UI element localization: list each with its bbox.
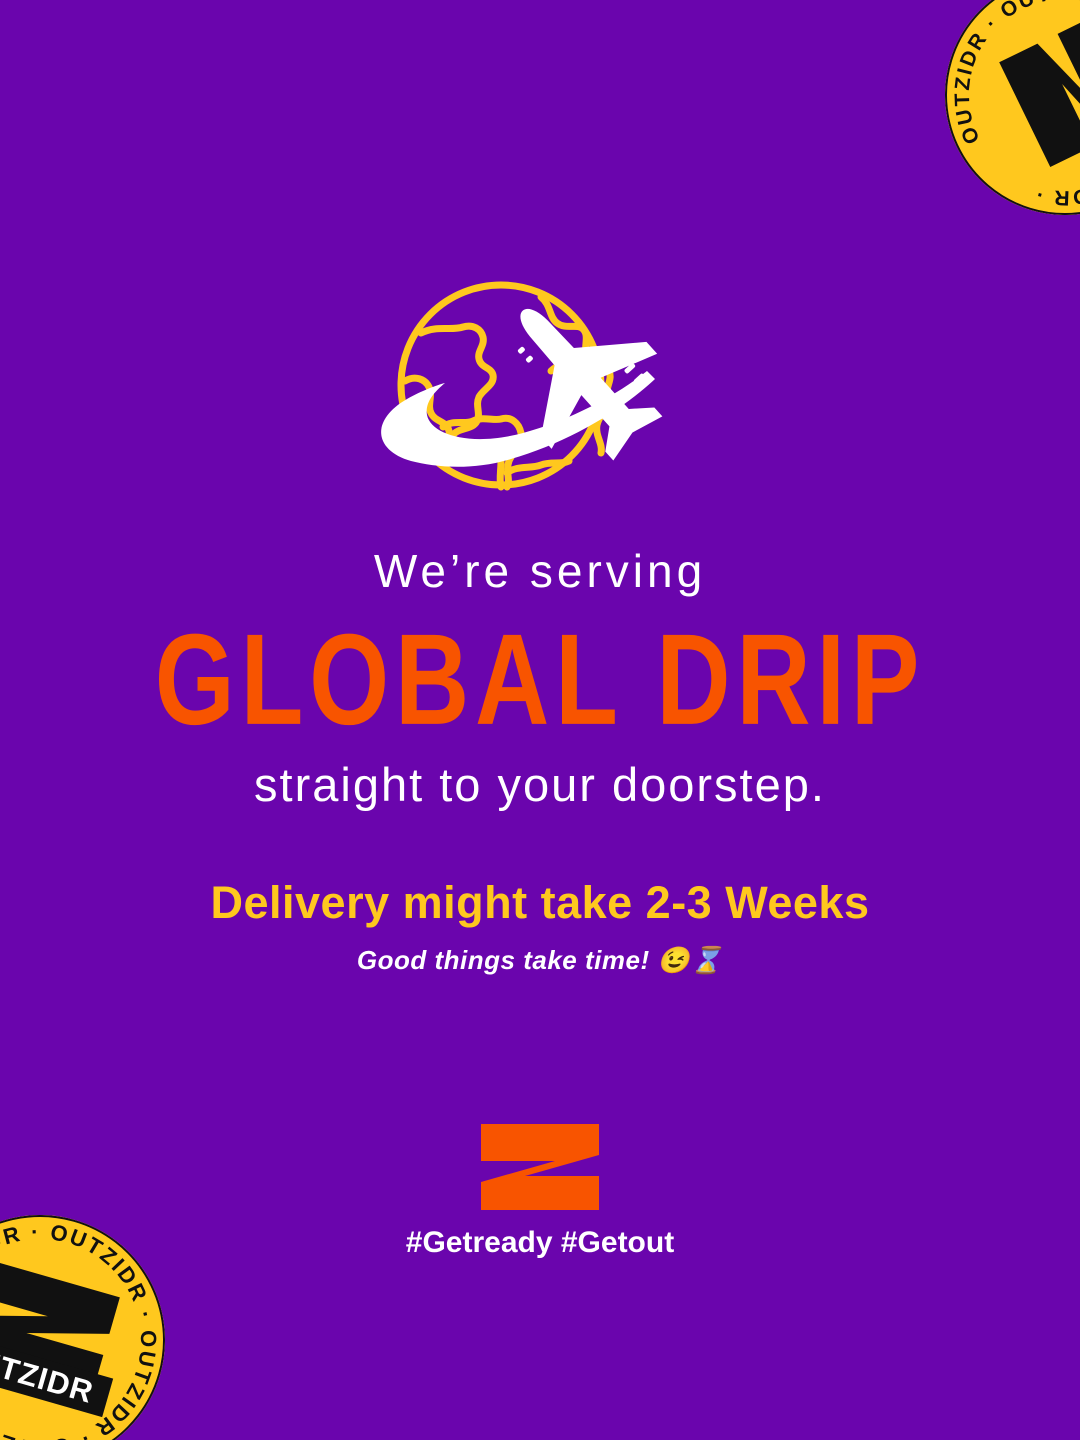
- delivery-note: Good things take time! 😉⌛: [0, 947, 1080, 973]
- globe-airplane-icon: [355, 275, 715, 515]
- eyebrow-text: We’re serving: [0, 548, 1080, 594]
- hashtags-text: #Getready #Getout: [0, 1228, 1080, 1258]
- delivery-notice: Delivery might take 2-3 Weeks: [0, 880, 1080, 925]
- outzidr-seal-top-right: OUTZIDR · OUTZIDR · OUTZIDR · OUTZIDR ·: [903, 0, 1080, 257]
- footer-block: #Getready #Getout: [0, 1122, 1080, 1258]
- poster-canvas: OUTZIDR · OUTZIDR · OUTZIDR · OUTZIDR ·: [0, 0, 1080, 1440]
- outzidr-z-logo: [478, 1122, 602, 1212]
- copy-block: We’re serving GLOBAL DRIP straight to yo…: [0, 548, 1080, 973]
- subline-text: straight to your doorstep.: [0, 761, 1080, 808]
- page-title: GLOBAL DRIP: [16, 608, 1064, 753]
